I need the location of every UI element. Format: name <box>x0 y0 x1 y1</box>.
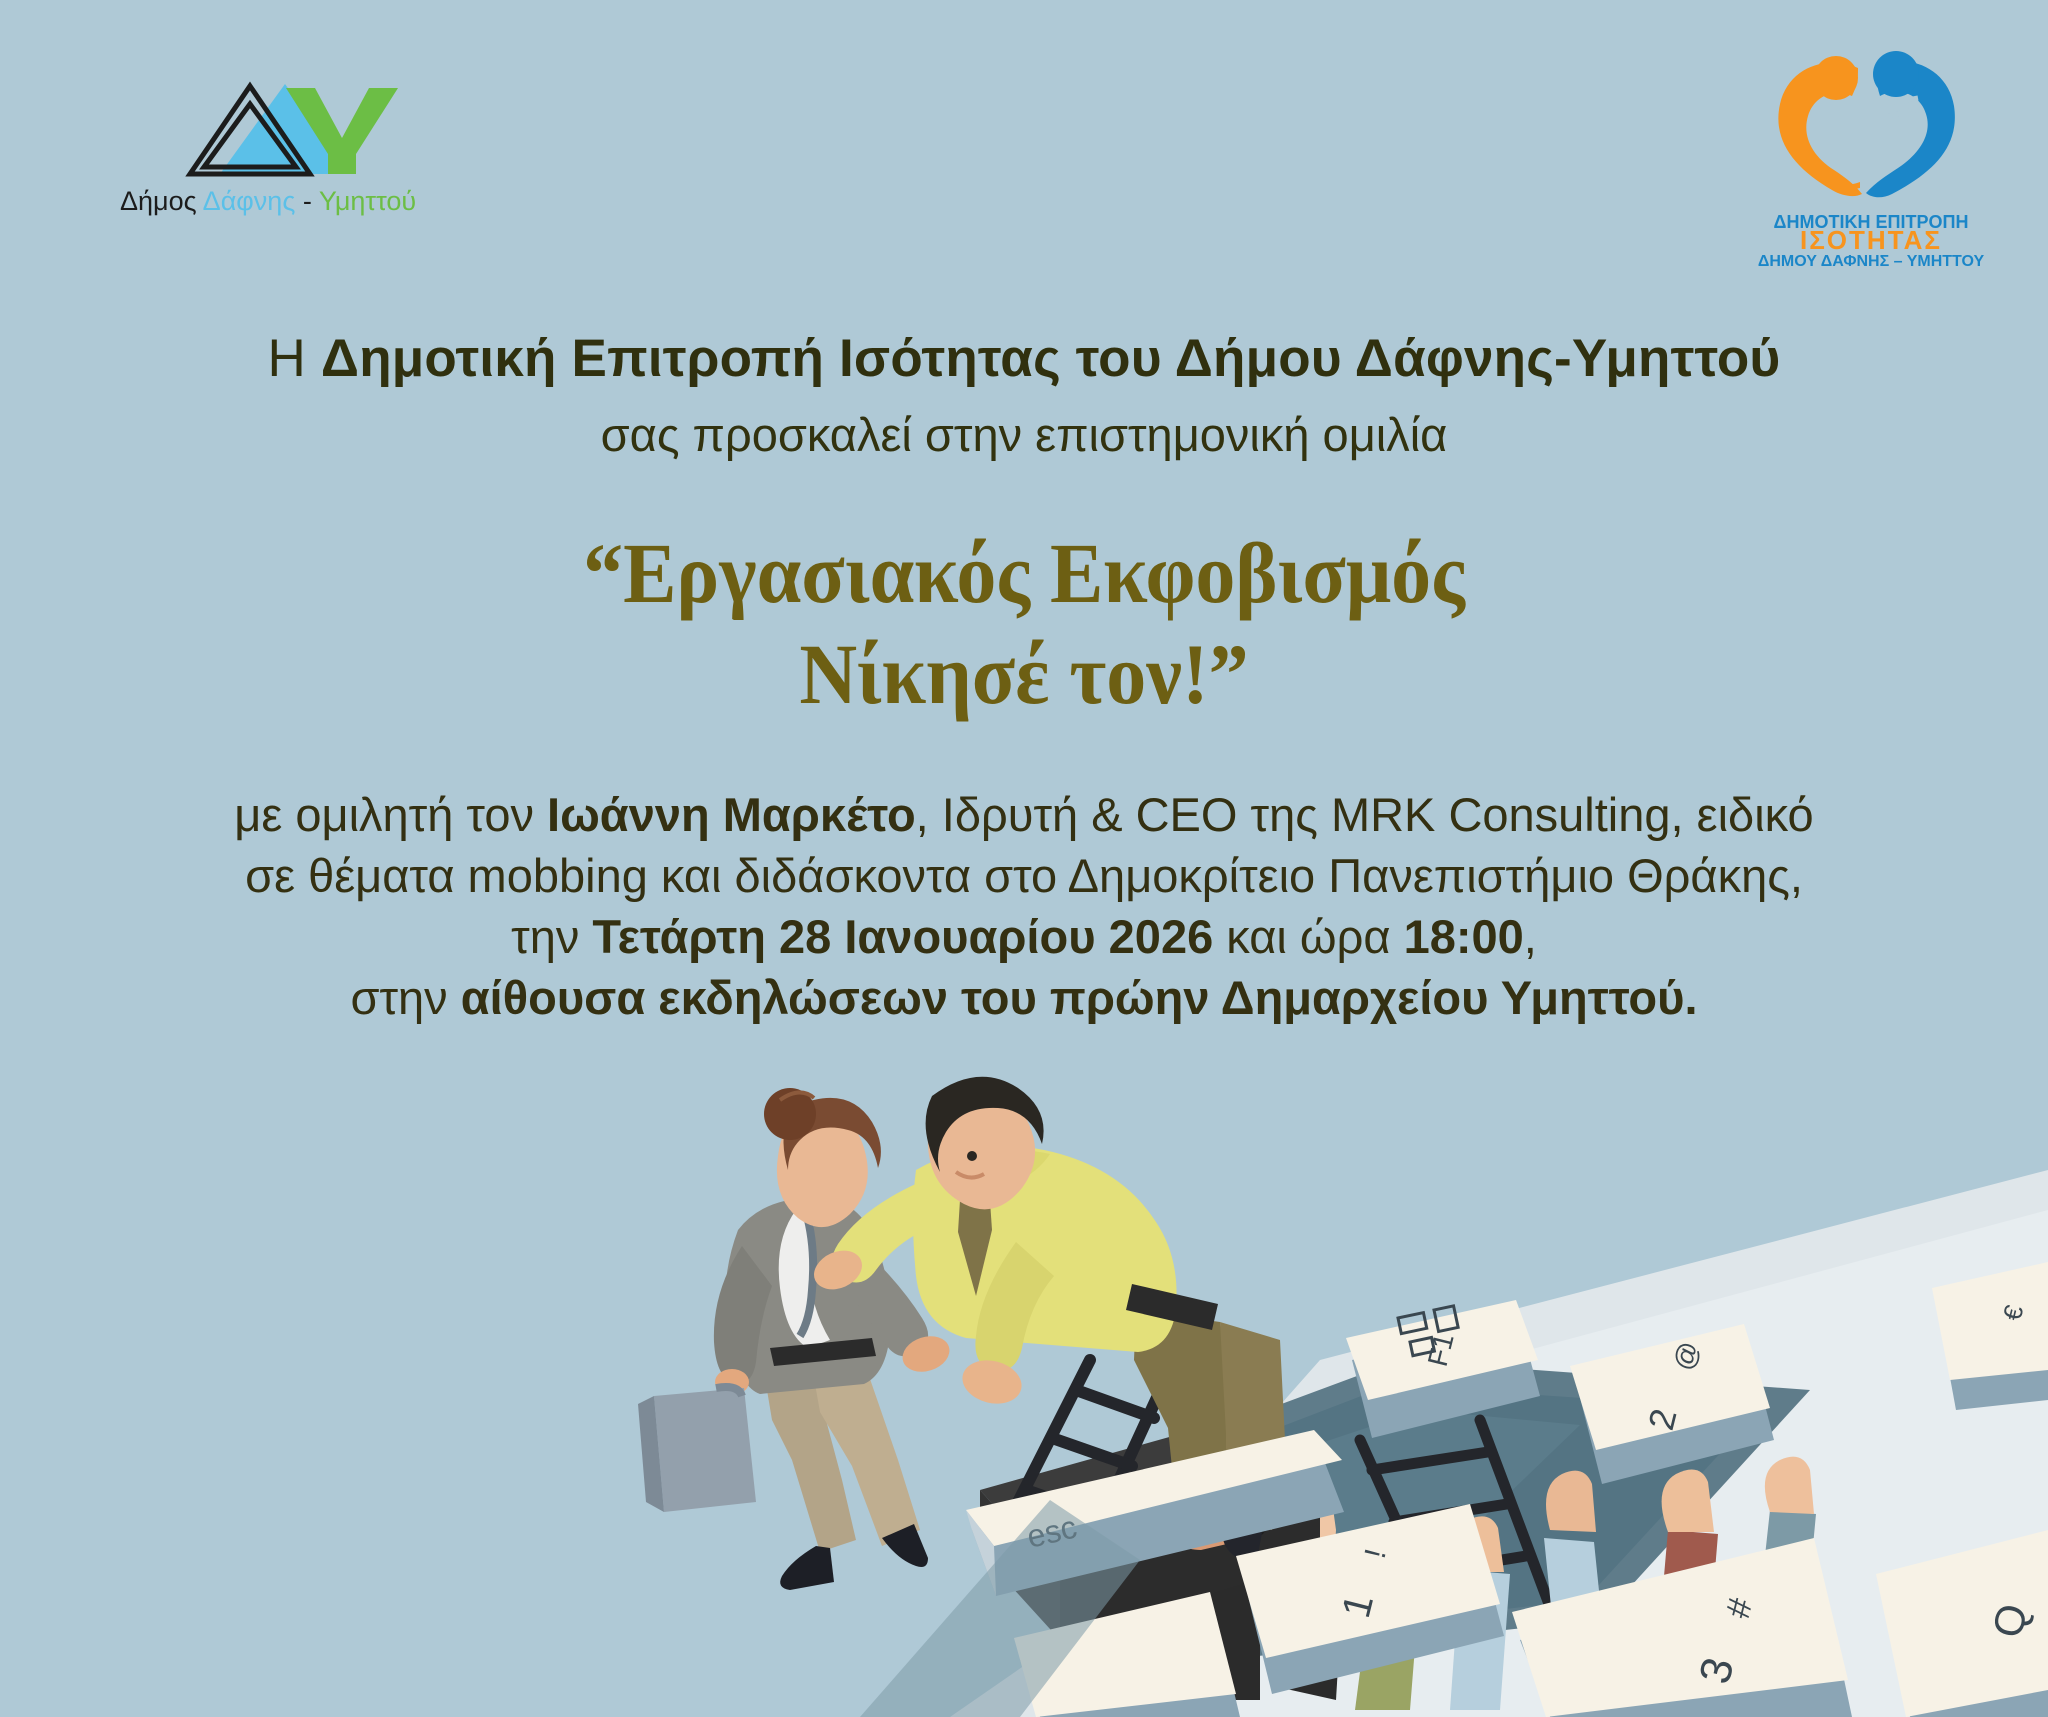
datetime-suffix: , <box>1524 910 1537 963</box>
grey-briefcase <box>638 1387 756 1512</box>
details-line-speaker: με ομιλητή τον Ιωάννη Μαρκέτο, Ιδρυτή & … <box>0 784 2048 845</box>
event-details: με ομιλητή τον Ιωάννη Μαρκέτο, Ιδρυτή & … <box>0 784 2048 1028</box>
workplace-bullying-keyboard-illustration: esc F1 <box>620 1060 2048 1717</box>
dimotiki-epitropi-isotitas-logo: ΔΗΜΟΤΙΚΗ ΕΠΙΤΡΟΠΗ ΙΣΟΤΗΤΑΣ ΔΗΜΟΥ ΔΑΦΝΗΣ … <box>1736 38 2006 268</box>
lecture-title: “Εργασιακός Εκφοβισμός Νίκησέ τον!” <box>72 523 1977 726</box>
speaker-role: , Ιδρυτή & CEO της MRK Consulting, ειδικ… <box>916 788 1814 841</box>
two-figures-heart-icon <box>1778 51 1954 197</box>
poster-canvas: Δήμος Δάφνης - Υμηττού ΔΗΜΟΤΙΚΗ ΕΠΙΤΡΟΠΗ… <box>0 0 2048 1717</box>
event-venue: αίθουσα εκδηλώσεων του πρώην Δημαρχείου … <box>461 971 1698 1024</box>
event-time: 18:00 <box>1404 910 1524 963</box>
lecture-title-line2: Νίκησέ τον!” <box>72 624 1977 725</box>
invitation-heading-line1: Η Δημοτική Επιτροπή Ισότητας του Δήμου Δ… <box>0 330 2048 387</box>
speaker-prefix: με ομιλητή τον <box>234 788 547 841</box>
poster-text-block: Η Δημοτική Επιτροπή Ισότητας του Δήμου Δ… <box>0 330 2048 1028</box>
eye <box>967 1151 977 1161</box>
lecture-title-line1: “Εργασιακός Εκφοβισμός <box>72 523 1977 624</box>
logo-left-wordmark: Δήμος Δάφνης - Υμηττού <box>120 186 416 216</box>
venue-prefix: στην <box>350 971 460 1024</box>
details-line-datetime: την Τετάρτη 28 Ιανουαρίου 2026 και ώρα 1… <box>0 906 2048 967</box>
heading-bold: Δημοτική Επιτροπή Ισότητας του Δήμου Δάφ… <box>321 329 1781 388</box>
logo-right-line2: ΙΣΟΤΗΤΑΣ <box>1800 225 1942 255</box>
dimos-dafnis-ymittou-logo: Δήμος Δάφνης - Υμηττού <box>110 62 470 222</box>
invitation-heading-line2: σας προσκαλεί στην επιστημονική ομιλία <box>0 409 2048 461</box>
date-prefix: την <box>511 910 592 963</box>
details-line-venue: στην αίθουσα εκδηλώσεων του πρώην Δημαρχ… <box>0 967 2048 1028</box>
event-date: Τετάρτη 28 Ιανουαρίου 2026 <box>592 910 1213 963</box>
logo-right-line3: ΔΗΜΟΥ ΔΑΦΝΗΣ – ΥΜΗΤΤΟΥ <box>1758 253 1985 268</box>
time-prefix: και ώρα <box>1213 910 1403 963</box>
speaker-name: Ιωάννη Μαρκέτο <box>547 788 916 841</box>
heading-prefix: Η <box>268 329 321 388</box>
details-line-expertise: σε θέματα mobbing και διδάσκοντα στο Δημ… <box>0 845 2048 906</box>
